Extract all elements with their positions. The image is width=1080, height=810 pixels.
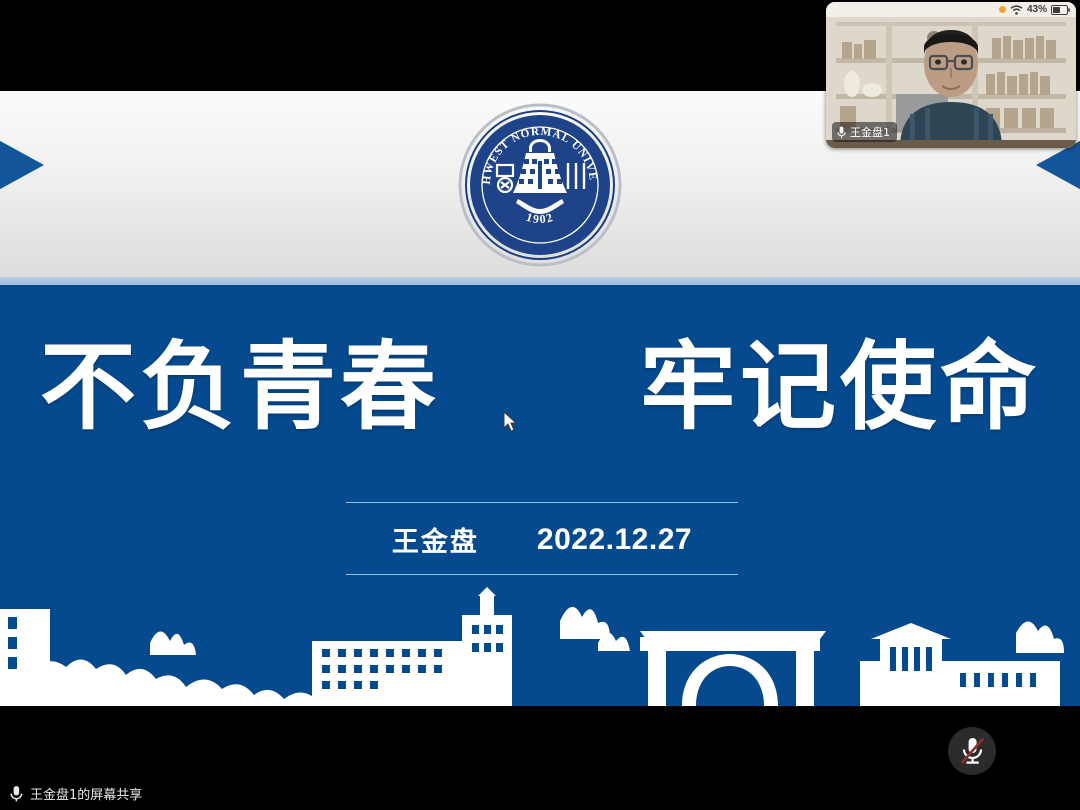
slide-subtitle-block: 王金盘 2022.12.27 <box>346 502 738 575</box>
device-status-bar: 43% <box>826 2 1076 17</box>
slide-headline: 不负青春 牢记使命 <box>0 339 1080 435</box>
participant-name-label: 王金盘1 <box>850 124 890 140</box>
participant-video-thumbnail[interactable]: 43% 王金盘1 <box>826 2 1076 148</box>
triangle-right-icon <box>0 131 44 199</box>
microphone-icon <box>837 126 846 139</box>
fullscreen-expand-icon[interactable] <box>1026 652 1068 694</box>
shared-slide[interactable]: NORTHWEST NORMAL UNIVERSITY 1902 <box>0 91 1080 706</box>
mute-toggle-button[interactable] <box>948 727 996 775</box>
microphone-muted-icon <box>959 736 986 766</box>
battery-icon <box>1051 5 1070 15</box>
microphone-icon <box>10 785 23 802</box>
participant-name-chip: 王金盘1 <box>832 122 897 142</box>
notification-dot-icon <box>999 6 1006 13</box>
screen-share-status-bar: 王金盘1的屏幕共享 <box>0 776 1080 810</box>
battery-percent-label: 43% <box>1027 4 1047 15</box>
university-bell-emblem: NORTHWEST NORMAL UNIVERSITY 1902 <box>458 103 622 267</box>
campus-skyline-silhouette <box>0 581 1080 706</box>
screen-share-status-label: 王金盘1的屏幕共享 <box>30 784 142 803</box>
conference-screen: NORTHWEST NORMAL UNIVERSITY 1902 <box>0 0 1080 810</box>
presentation-date: 2022.12.27 <box>537 523 692 557</box>
subtitle-rule-bottom <box>346 574 738 575</box>
wifi-icon <box>1010 5 1023 15</box>
presenter-name: 王金盘 <box>392 520 479 559</box>
